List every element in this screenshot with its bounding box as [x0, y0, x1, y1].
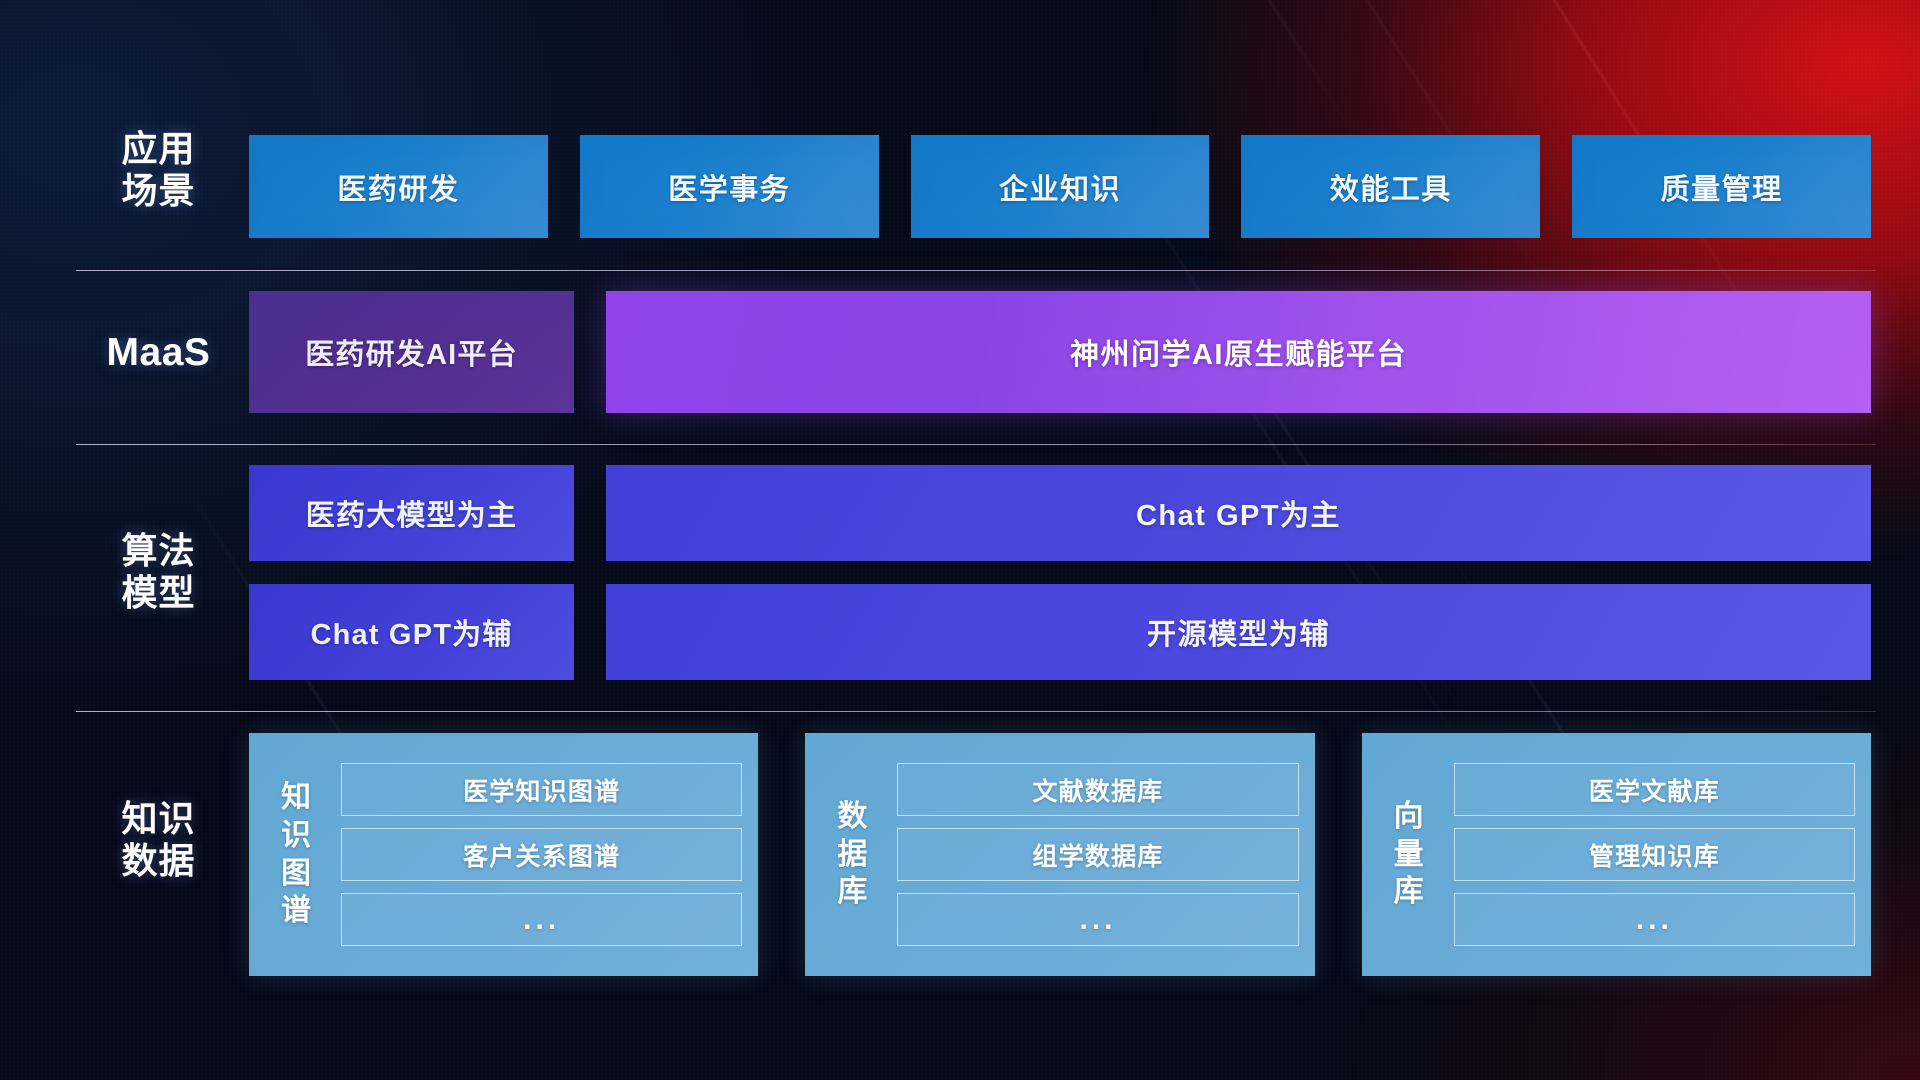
app-box-quality-management[interactable]: 质量管理	[1572, 135, 1871, 238]
maas-box-pharma-ai-platform[interactable]: 医药研发AI平台	[249, 291, 574, 413]
algorithm-line-primary: 医药大模型为主 Chat GPT为主	[249, 465, 1871, 561]
maas-box-shenzhou-wenxue[interactable]: 神州问学AI原生赋能平台	[606, 291, 1871, 413]
row-label-algorithm-models: 算法 模型	[76, 530, 241, 614]
algorithm-models-row: 医药大模型为主 Chat GPT为主 Chat GPT为辅 开源模型为辅	[249, 465, 1871, 680]
knowledge-item-management-kb[interactable]: 管理知识库	[1454, 828, 1855, 881]
algo-box-pharma-large-model[interactable]: 医药大模型为主	[249, 465, 574, 561]
knowledge-item-more-graph[interactable]: ...	[341, 893, 742, 946]
app-box-medical-affairs[interactable]: 医学事务	[580, 135, 879, 238]
knowledge-item-list-graph: 医学知识图谱 客户关系图谱 ...	[341, 763, 742, 946]
knowledge-item-more-database[interactable]: ...	[897, 893, 1298, 946]
divider-2	[76, 444, 1876, 445]
knowledge-item-omics-db[interactable]: 组学数据库	[897, 828, 1298, 881]
knowledge-item-literature-db[interactable]: 文献数据库	[897, 763, 1298, 816]
application-scenarios-row: 医药研发 医学事务 企业知识 效能工具 质量管理	[249, 135, 1871, 238]
algorithm-line-secondary: Chat GPT为辅 开源模型为辅	[249, 584, 1871, 680]
knowledge-item-medical-graph[interactable]: 医学知识图谱	[341, 763, 742, 816]
app-box-efficiency-tools[interactable]: 效能工具	[1241, 135, 1540, 238]
knowledge-panel-title-database: 数据库	[825, 798, 879, 911]
knowledge-panel-knowledge-graph[interactable]: 知识图谱 医学知识图谱 客户关系图谱 ...	[249, 733, 758, 976]
knowledge-item-list-vector: 医学文献库 管理知识库 ...	[1454, 763, 1855, 946]
algo-box-chatgpt-secondary[interactable]: Chat GPT为辅	[249, 584, 574, 680]
knowledge-panel-title-graph: 知识图谱	[269, 779, 323, 930]
knowledge-item-medical-literature[interactable]: 医学文献库	[1454, 763, 1855, 816]
light-streak-1	[984, 0, 1357, 138]
divider-1	[76, 270, 1876, 271]
row-label-knowledge-data: 知识 数据	[76, 798, 241, 882]
maas-row: 医药研发AI平台 神州问学AI原生赋能平台	[249, 291, 1871, 413]
algo-box-opensource-secondary[interactable]: 开源模型为辅	[606, 584, 1871, 680]
knowledge-item-customer-graph[interactable]: 客户关系图谱	[341, 828, 742, 881]
row-label-application-scenarios: 应用 场景	[76, 128, 241, 212]
knowledge-item-more-vector[interactable]: ...	[1454, 893, 1855, 946]
app-box-medicine-rd[interactable]: 医药研发	[249, 135, 548, 238]
knowledge-panel-vector-store[interactable]: 向量库 医学文献库 管理知识库 ...	[1362, 733, 1871, 976]
knowledge-panel-database[interactable]: 数据库 文献数据库 组学数据库 ...	[805, 733, 1314, 976]
knowledge-item-list-database: 文献数据库 组学数据库 ...	[897, 763, 1298, 946]
algo-box-chatgpt-primary[interactable]: Chat GPT为主	[606, 465, 1871, 561]
app-box-enterprise-knowledge[interactable]: 企业知识	[911, 135, 1210, 238]
knowledge-data-row: 知识图谱 医学知识图谱 客户关系图谱 ... 数据库 文献数据库 组学数据库 .…	[249, 733, 1871, 976]
divider-3	[76, 711, 1876, 712]
diagram-canvas: 应用 场景 医药研发 医学事务 企业知识 效能工具 质量管理 MaaS 医药研发…	[0, 0, 1920, 1080]
row-label-maas: MaaS	[76, 330, 241, 376]
knowledge-panel-title-vector: 向量库	[1382, 798, 1436, 911]
